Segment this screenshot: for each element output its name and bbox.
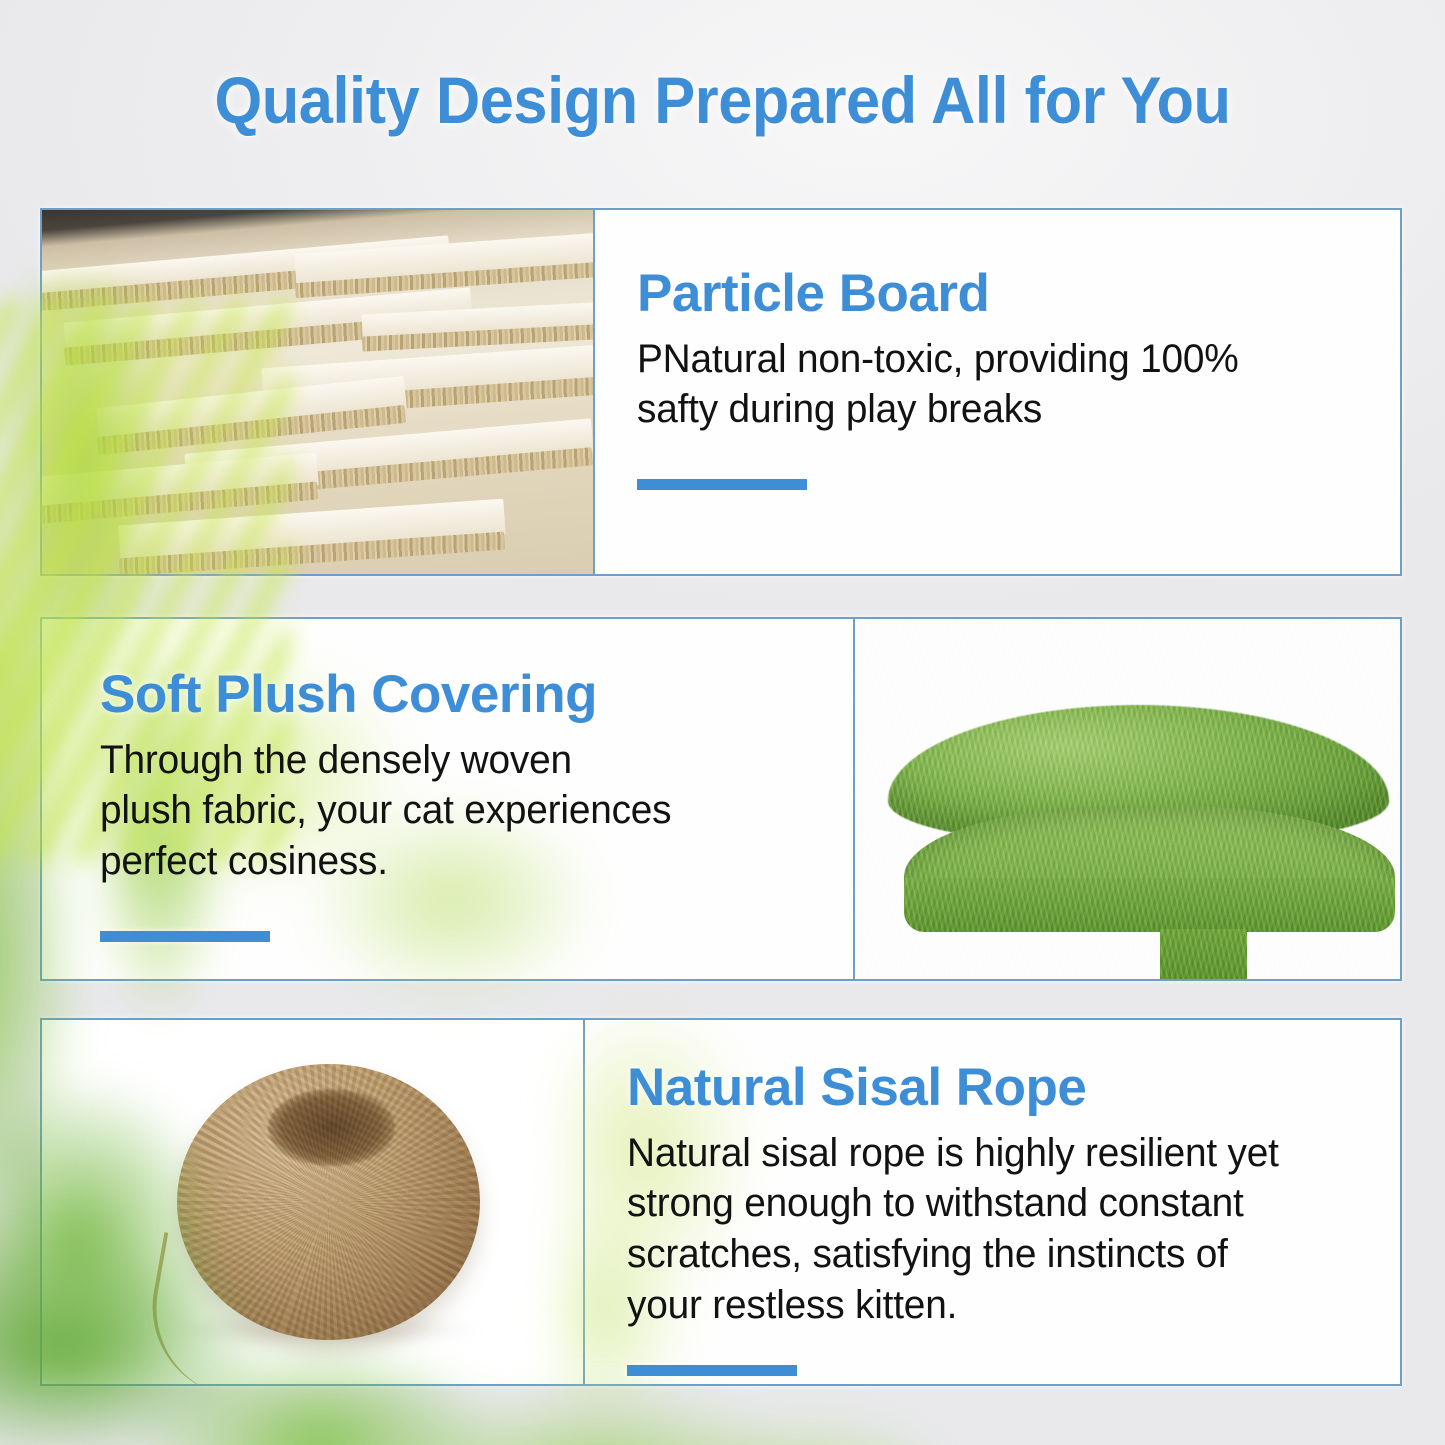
particle-board-photo: [42, 210, 593, 574]
card-heading: Particle Board: [637, 266, 1360, 322]
accent-bar: [637, 479, 807, 490]
card-heading: Natural Sisal Rope: [627, 1060, 1360, 1116]
card-heading: Soft Plush Covering: [100, 667, 813, 723]
card-body-line: PNatural non-toxic, providing 100%: [637, 334, 1338, 385]
infographic-root: Quality Design Prepared All for You: [0, 0, 1445, 1445]
soft-plush-photo: [855, 619, 1400, 979]
sisal-rope-photo: [42, 1020, 583, 1384]
feature-card-natural-sisal-rope: Natural Sisal Rope Natural sisal rope is…: [40, 1018, 1402, 1386]
card-body-line: safty during play breaks: [637, 384, 1338, 435]
feature-card-particle-board: Particle Board PNatural non-toxic, provi…: [40, 208, 1402, 576]
card-body: PNatural non-toxic, providing 100% safty…: [637, 334, 1338, 436]
particle-board-text-pane: Particle Board PNatural non-toxic, provi…: [595, 210, 1400, 574]
page-title: Quality Design Prepared All for You: [51, 62, 1395, 138]
accent-bar: [627, 1365, 797, 1376]
card-body-line: strong enough to withstand constant: [627, 1178, 1338, 1229]
card-body-line: Natural sisal rope is highly resilient y…: [627, 1128, 1338, 1179]
feature-card-soft-plush-covering: Soft Plush Covering Through the densely …: [40, 617, 1402, 981]
card-body-line: plush fabric, your cat experiences: [100, 785, 792, 836]
card-body: Through the densely woven plush fabric, …: [100, 735, 792, 887]
card-body-line: perfect cosiness.: [100, 836, 792, 887]
card-body: Natural sisal rope is highly resilient y…: [627, 1128, 1338, 1331]
soft-plush-text-pane: Soft Plush Covering Through the densely …: [42, 619, 853, 979]
sisal-rope-text-pane: Natural Sisal Rope Natural sisal rope is…: [585, 1020, 1400, 1384]
card-body-line: Through the densely woven: [100, 735, 792, 786]
green-plush-image: [855, 619, 1400, 979]
card-body-line: your restless kitten.: [627, 1280, 1338, 1331]
sisal-rope-image: [42, 1020, 583, 1384]
card-body-line: scratches, satisfying the instincts of: [627, 1229, 1338, 1280]
particle-board-image: [42, 210, 593, 574]
accent-bar: [100, 931, 270, 942]
